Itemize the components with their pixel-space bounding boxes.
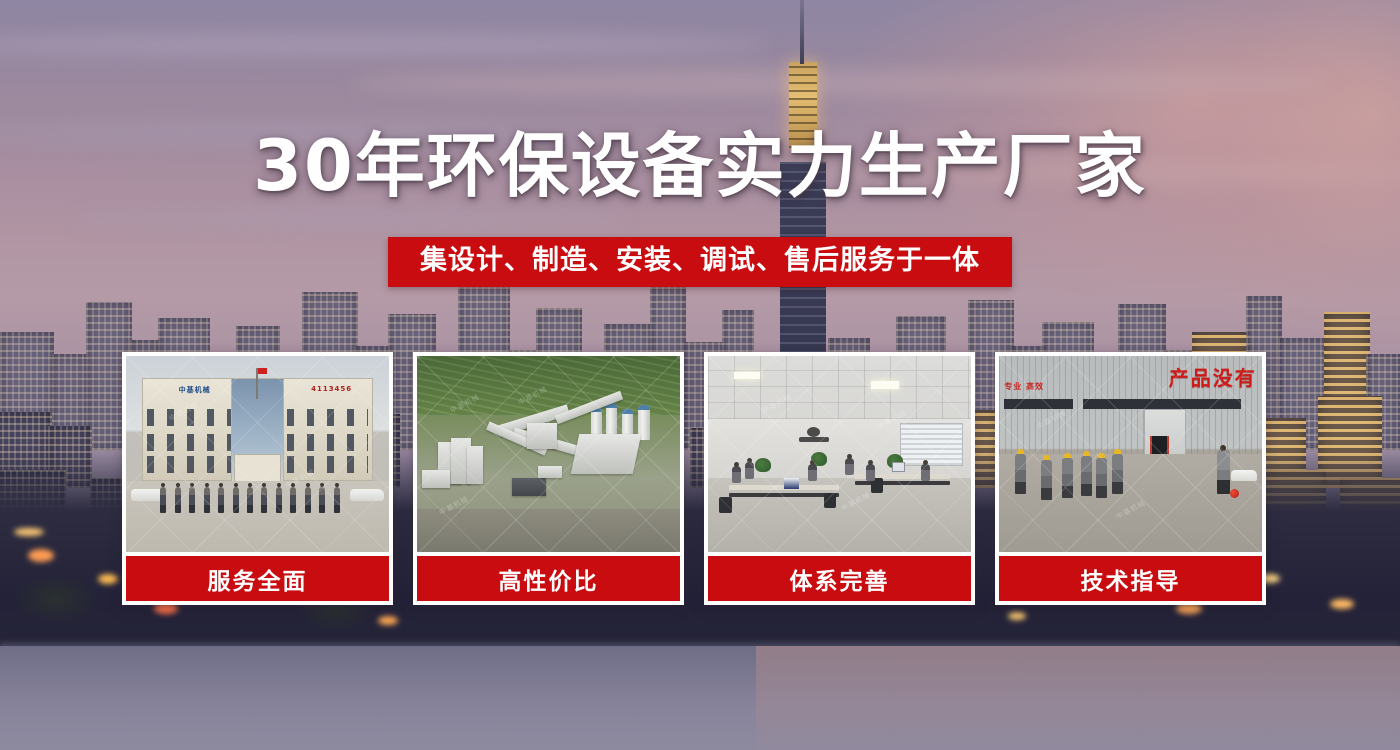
photo-phone-number: 4113456: [311, 385, 352, 393]
feature-card[interactable]: 中基机械 中基机械 中基机械 高性价比: [413, 352, 684, 605]
aerial-industrial-plant-photo: 中基机械 中基机械 中基机械: [417, 356, 680, 552]
hero-banner: 30年环保设备实力生产厂家 集设计、制造、安装、调试、售后服务于一体 中基机械 …: [0, 0, 1400, 750]
tower-spire: [800, 0, 804, 64]
factory-slogan-text: 专业 高效: [1004, 381, 1044, 392]
supervisor-figure: [1217, 450, 1230, 494]
feature-card-caption: 体系完善: [708, 556, 971, 601]
laptop-icon: [784, 478, 799, 489]
feature-card-caption: 高性价比: [417, 556, 680, 601]
factory-workers-training-photo: 产品没有 专业 高效 中基机械 中基机械: [999, 356, 1262, 552]
subtitle-banner: 集设计、制造、安装、调试、售后服务于一体: [388, 237, 1012, 287]
feature-card[interactable]: 中基机械 中基机械 中基机械 体系完善: [704, 352, 975, 605]
car-shape: [1231, 470, 1257, 481]
feature-card-caption: 服务全面: [126, 556, 389, 601]
photo-company-sign: 中基机械: [179, 385, 211, 395]
office-interior-staff-working-photo: 中基机械 中基机械 中基机械: [708, 356, 971, 552]
wall-decal-icon: [797, 423, 831, 449]
page-title: 30年环保设备实力生产厂家: [0, 131, 1400, 201]
company-office-building-with-staff-photo: 中基机械 4113456 中基机械 中基机械: [126, 356, 389, 552]
factory-sign-text: 产品没有: [1169, 362, 1257, 391]
flag-icon: [256, 368, 258, 399]
feature-card[interactable]: 中基机械 4113456 中基机械 中基机械: [122, 352, 393, 605]
monitor-icon: [892, 462, 905, 472]
feature-card-row: 中基机械 4113456 中基机械 中基机械: [122, 352, 1278, 605]
subtitle-container: 集设计、制造、安装、调试、售后服务于一体: [0, 237, 1400, 287]
feature-card[interactable]: 产品没有 专业 高效 中基机械 中基机械 技术指导: [995, 352, 1266, 605]
feature-card-caption: 技术指导: [999, 556, 1262, 601]
river-reflection: [756, 646, 1400, 750]
